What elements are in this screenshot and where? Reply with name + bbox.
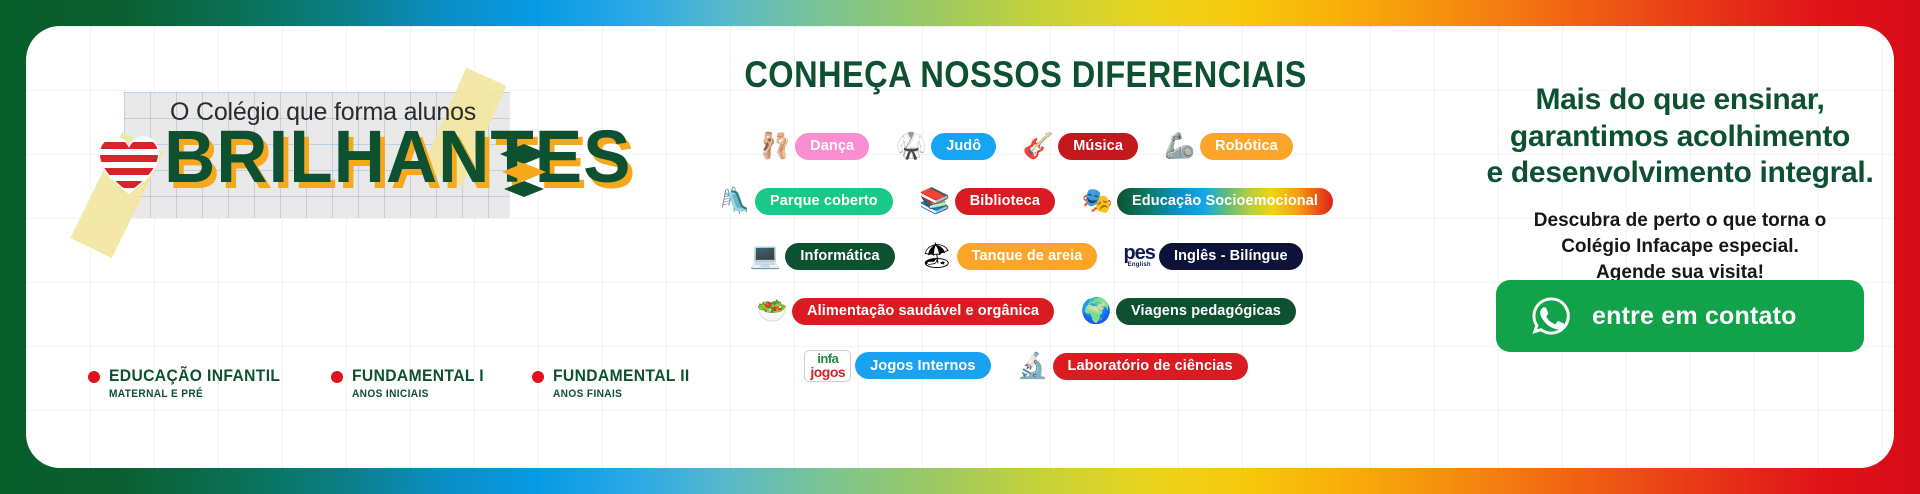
pes-english-logo: pes English: [1123, 244, 1154, 268]
striped-heart-icon: [98, 136, 160, 194]
cta-subtext-line1: Descubra de perto o que torna o: [1466, 208, 1894, 234]
playground-slide-icon: 🛝: [719, 185, 751, 217]
level-item-educacao-infantil: EDUCAÇÃO INFANTIL MATERNAL E PRÉ: [88, 366, 295, 400]
cta-headline-line2: garantimos acolhimento: [1466, 119, 1894, 156]
badge-label: Viagens pedagógicas: [1116, 298, 1296, 325]
healthy-plate-icon: 🥗: [756, 295, 788, 327]
badge-danca[interactable]: 🩰 Dança: [759, 130, 869, 162]
badge-jogos-internos[interactable]: infa jogos Jogos Internos: [804, 350, 990, 382]
infa-logo-line2: jogos: [810, 366, 845, 379]
badge-row: 💻 Informática 🏖 Tanque de areia pes Engl…: [586, 232, 1466, 280]
badge-label: Biblioteca: [955, 188, 1055, 215]
badge-tanque-de-areia[interactable]: 🏖 Tanque de areia: [921, 240, 1098, 272]
badge-label: Alimentação saudável e orgânica: [792, 298, 1054, 325]
chevron-stack-icon: [496, 142, 552, 208]
judo-gi-icon: 🥋: [895, 130, 927, 162]
cta-subtext: Descubra de perto o que torna o Colégio …: [1466, 208, 1894, 287]
pes-logo-subtext: English: [1128, 262, 1151, 268]
level-title: FUNDAMENTAL I: [352, 366, 484, 386]
badge-row: 🩰 Dança 🥋 Judô 🎸 Música 🦾: [586, 122, 1466, 170]
bullet-dot-icon: [331, 371, 343, 383]
bullet-dot-icon: [88, 371, 100, 383]
emotions-circle-icon: 🎭: [1081, 185, 1113, 217]
badge-label: Inglês - Bilíngue: [1159, 243, 1303, 270]
infa-jogos-logo: infa jogos: [804, 350, 851, 382]
badge-musica[interactable]: 🎸 Música: [1022, 130, 1138, 162]
level-subtitle: ANOS INICIAIS: [352, 388, 484, 400]
differentials-heading-text: CONHEÇA NOSSOS DIFERENCIAIS: [745, 54, 1307, 96]
badge-ingles-bilingue[interactable]: pes English Inglês - Bilíngue: [1123, 243, 1302, 270]
badge-parque-coberto[interactable]: 🛝 Parque coberto: [719, 185, 893, 217]
differentials-heading: CONHEÇA NOSSOS DIFERENCIAIS: [586, 54, 1466, 96]
badge-alimentacao-saudavel[interactable]: 🥗 Alimentação saudável e orgânica: [756, 295, 1054, 327]
left-panel: O Colégio que forma alunos BRILHANTES ED…: [26, 26, 586, 468]
cta-subtext-line2: Colégio Infacape especial.: [1466, 234, 1894, 260]
sand-bucket-icon: 🏖: [921, 240, 953, 272]
level-subtitle: MATERNAL E PRÉ: [109, 388, 280, 400]
differentials-list: 🩰 Dança 🥋 Judô 🎸 Música 🦾: [586, 122, 1466, 397]
paper-hole-icon: [96, 102, 109, 115]
bullet-dot-icon: [532, 371, 544, 383]
badge-laboratorio-de-ciencias[interactable]: 🔬 Laboratório de ciências: [1017, 350, 1248, 382]
badge-label: Jogos Internos: [855, 352, 990, 379]
badge-educacao-socioemocional[interactable]: 🎭 Educação Socioemocional: [1081, 185, 1333, 217]
badge-label: Música: [1058, 133, 1138, 160]
badge-label: Educação Socioemocional: [1117, 188, 1333, 215]
badge-biblioteca[interactable]: 📚 Biblioteca: [919, 185, 1055, 217]
badge-row: infa jogos Jogos Internos 🔬 Laboratório …: [586, 342, 1466, 390]
badge-judo[interactable]: 🥋 Judô: [895, 130, 996, 162]
cta-headline-line3: e desenvolvimento integral.: [1466, 155, 1894, 192]
badge-label: Laboratório de ciências: [1053, 353, 1248, 380]
badge-label: Informática: [785, 243, 894, 270]
books-icon: 📚: [919, 185, 951, 217]
banner-card: O Colégio que forma alunos BRILHANTES ED…: [26, 26, 1894, 468]
whatsapp-contact-button[interactable]: entre em contato: [1496, 280, 1864, 352]
badge-viagens-pedagogicas[interactable]: 🌍 Viagens pedagógicas: [1080, 295, 1296, 327]
badge-label: Robótica: [1200, 133, 1293, 160]
badge-informatica[interactable]: 💻 Informática: [749, 240, 894, 272]
whatsapp-icon: [1530, 295, 1572, 337]
badge-row: 🛝 Parque coberto 📚 Biblioteca 🎭 Educação…: [586, 177, 1466, 225]
school-wordmark: BRILHANTES: [164, 122, 631, 192]
cta-headline-line1: Mais do que ensinar,: [1466, 82, 1894, 119]
science-lab-icon: 🔬: [1017, 350, 1049, 382]
badge-robotica[interactable]: 🦾 Robótica: [1164, 130, 1293, 162]
laptop-icon: 💻: [749, 240, 781, 272]
badge-label: Judô: [931, 133, 996, 160]
school-logo-block: O Colégio que forma alunos BRILHANTES: [86, 84, 546, 234]
badge-label: Dança: [795, 133, 869, 160]
promotional-banner: O Colégio que forma alunos BRILHANTES ED…: [0, 0, 1920, 494]
center-panel: CONHEÇA NOSSOS DIFERENCIAIS 🩰 Dança 🥋 Ju…: [586, 26, 1466, 468]
pes-logo-text: pes: [1123, 244, 1154, 262]
whatsapp-button-label: entre em contato: [1592, 302, 1797, 331]
badge-label: Parque coberto: [755, 188, 893, 215]
right-panel: Mais do que ensinar, garantimos acolhime…: [1466, 26, 1894, 468]
cta-headline: Mais do que ensinar, garantimos acolhime…: [1466, 82, 1894, 192]
badge-label: Tanque de areia: [957, 243, 1098, 270]
level-item-fundamental-i: FUNDAMENTAL I ANOS INICIAIS: [331, 366, 495, 400]
guitar-icon: 🎸: [1022, 130, 1054, 162]
level-title: EDUCAÇÃO INFANTIL: [109, 366, 280, 386]
airplane-globe-icon: 🌍: [1080, 295, 1112, 327]
badge-row: 🥗 Alimentação saudável e orgânica 🌍 Viag…: [586, 287, 1466, 335]
ballet-shoe-icon: 🩰: [759, 130, 791, 162]
robot-arm-icon: 🦾: [1164, 130, 1196, 162]
